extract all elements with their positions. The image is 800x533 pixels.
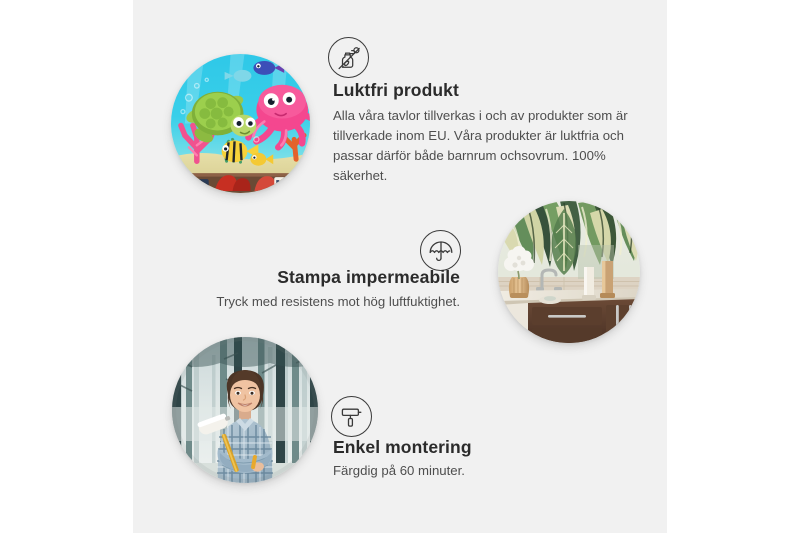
woman-with-paint-roller-forest-wallpaper-circle-photo xyxy=(172,337,318,483)
feature-title: Stampa impermeabile xyxy=(160,267,460,289)
feature-title: Luktfri produkt xyxy=(333,80,633,102)
feature-body: Färgdig på 60 minuter. xyxy=(333,461,623,481)
umbrella-icon-badge xyxy=(420,230,461,271)
feature-title: Enkel montering xyxy=(333,437,623,459)
feature-text-easy-mounting: Enkel montering Färgdig på 60 minuter. xyxy=(333,437,623,481)
promo-feature-graphic: Luktfri produkt Alla våra tavlor tillver… xyxy=(0,0,800,533)
umbrella-icon xyxy=(420,230,461,271)
paint-roller-icon-badge xyxy=(331,396,372,437)
no-odour-spray-bottle-icon-badge xyxy=(328,37,369,78)
no-odour-spray-bottle-icon xyxy=(328,37,369,78)
bathroom-green-tropical-leaf-wallpaper-circle-photo xyxy=(498,201,640,343)
paint-roller-icon xyxy=(331,396,372,437)
feature-body: Alla våra tavlor tillverkas i och av pro… xyxy=(333,106,633,186)
underwater-cartoon-sea-turtle-octopus-circle-photo xyxy=(171,54,310,193)
feature-body: Tryck med resistens mot hög luftfuktighe… xyxy=(160,292,460,312)
feature-text-odourless: Luktfri produkt Alla våra tavlor tillver… xyxy=(333,80,633,186)
feature-text-waterproof: Stampa impermeabile Tryck med resistens … xyxy=(160,267,460,312)
